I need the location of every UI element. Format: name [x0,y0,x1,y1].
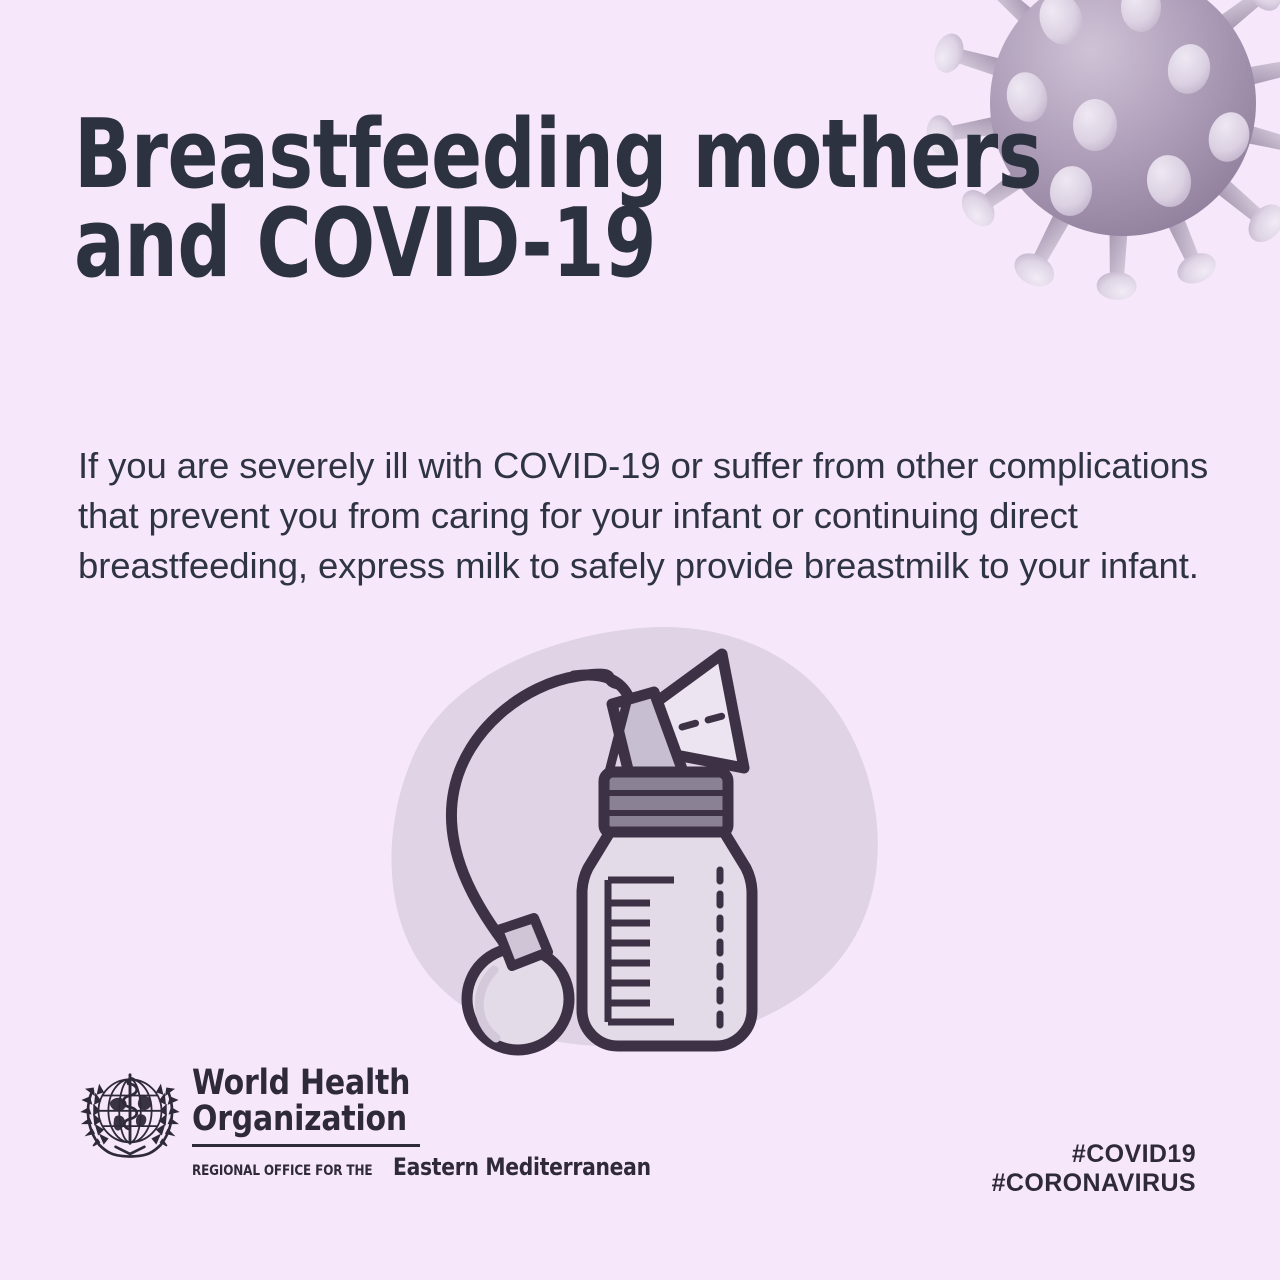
poster-canvas: Breastfeeding mothers and COVID-19 If yo… [0,0,1280,1280]
page-title: Breastfeeding mothers and COVID-19 [74,112,1084,289]
who-region-name: Eastern Mediterranean [393,1153,651,1181]
who-wordmark: World Health Organization REGIONAL OFFIC… [192,1062,667,1181]
hashtag-coronavirus: #CORONAVIRUS [992,1169,1196,1198]
pump-bulb-connector [498,918,548,966]
who-logo: World Health Organization REGIONAL OFFIC… [76,1062,436,1202]
breast-pump-illustration [378,618,908,1088]
bottle-collar [604,772,728,834]
who-name-line-2: Organization [192,1102,644,1138]
who-emblem-icon [76,1064,184,1172]
title-line-1: Breastfeeding mothers [74,112,963,199]
title-line-2: and COVID-19 [74,201,963,288]
who-name-line-1: World Health [192,1066,644,1102]
who-region-prefix: REGIONAL OFFICE FOR THE [192,1163,372,1179]
who-divider [192,1144,420,1147]
who-region-row: REGIONAL OFFICE FOR THE Eastern Mediterr… [192,1153,667,1181]
hashtag-covid19: #COVID19 [992,1140,1196,1169]
hashtag-block: #COVID19 #CORONAVIRUS [992,1140,1196,1199]
body-paragraph: If you are severely ill with COVID-19 or… [78,441,1213,592]
